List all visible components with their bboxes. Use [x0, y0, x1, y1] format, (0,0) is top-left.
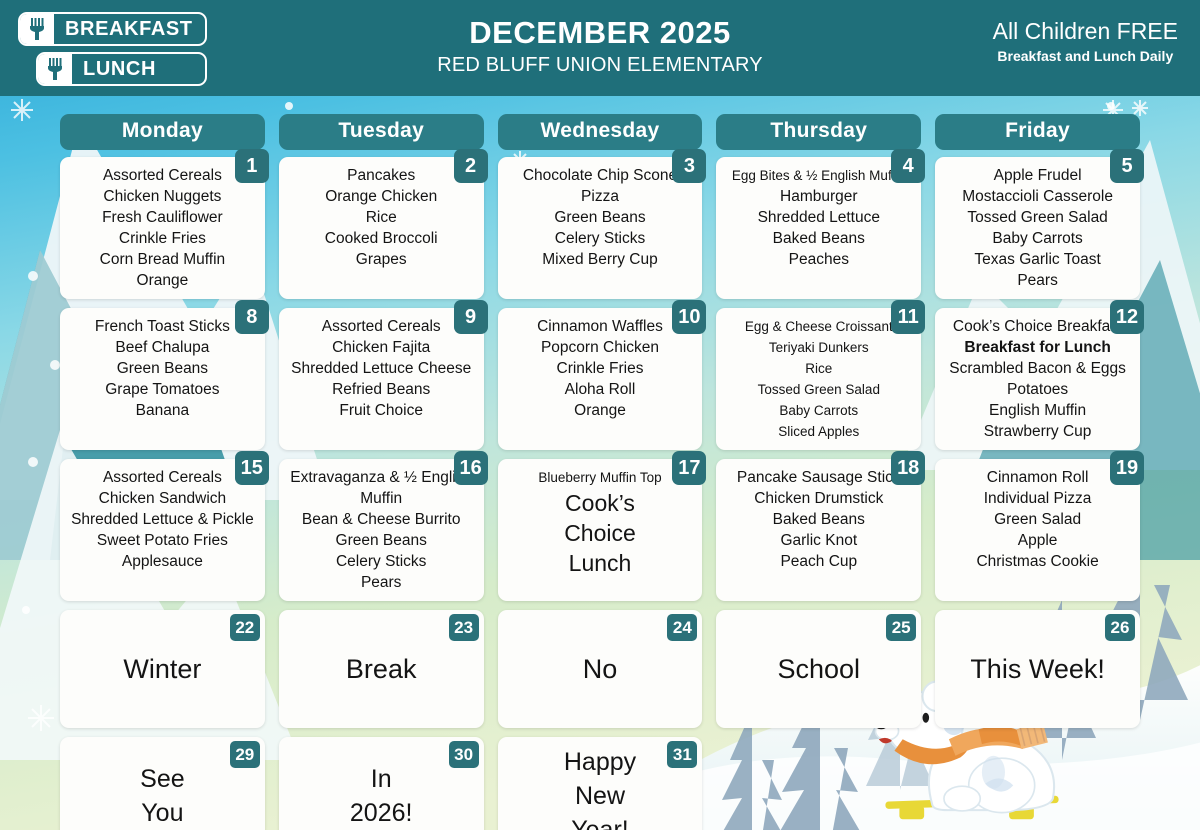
menu-item: Scrambled Bacon & Eggs — [941, 358, 1134, 379]
menu-item: Cinnamon Waffles — [504, 316, 697, 337]
menu-item: Assorted Cereals — [285, 316, 478, 337]
date-badge: 24 — [667, 614, 697, 641]
menu-item-list: Egg Bites & ½ English MuffinHamburgerShr… — [722, 165, 915, 270]
day-header-monday: Monday — [60, 114, 265, 150]
menu-item-list: Pancake Sausage StickChicken DrumstickBa… — [722, 467, 915, 572]
day-cell-10[interactable]: 10Cinnamon WafflesPopcorn ChickenCrinkle… — [498, 308, 703, 450]
menu-item: Choice — [504, 518, 697, 548]
day-cell-22[interactable]: 22Winter — [60, 610, 265, 728]
menu-item: Pancake Sausage Stick — [722, 467, 915, 488]
date-badge: 17 — [672, 451, 706, 485]
menu-item-list: Cinnamon WafflesPopcorn ChickenCrinkle F… — [504, 316, 697, 421]
menu-item: Egg Bites & ½ English Muffin — [722, 165, 915, 186]
menu-item: Green Beans — [66, 358, 259, 379]
day-cell-2[interactable]: 2PancakesOrange ChickenRiceCooked Brocco… — [279, 157, 484, 299]
day-cell-29[interactable]: 29SeeYou — [60, 737, 265, 830]
fork-icon — [20, 14, 54, 44]
menu-item: Pizza — [504, 186, 697, 207]
calendar-week-row: 15Assorted CerealsChicken SandwichShredd… — [60, 459, 1140, 601]
menu-item-list: Assorted CerealsChicken FajitaShredded L… — [285, 316, 478, 421]
menu-item: Lunch — [504, 548, 697, 578]
menu-item: Mostaccioli Casserole — [941, 186, 1134, 207]
calendar-week-row: 8French Toast SticksBeef ChalupaGreen Be… — [60, 308, 1140, 450]
menu-item: Texas Garlic Toast — [941, 249, 1134, 270]
date-badge: 2 — [454, 149, 488, 183]
day-cell-9[interactable]: 9Assorted CerealsChicken FajitaShredded … — [279, 308, 484, 450]
message-line: No — [504, 651, 697, 687]
menu-item: Blueberry Muffin Top — [504, 467, 697, 488]
menu-item: Orange Chicken — [285, 186, 478, 207]
date-badge: 30 — [449, 741, 479, 768]
menu-item: Hamburger — [722, 186, 915, 207]
day-cell-16[interactable]: 16Extravaganza & ½ EnglishMuffinBean & C… — [279, 459, 484, 601]
menu-item: Banana — [66, 400, 259, 421]
menu-item: Rice — [285, 207, 478, 228]
menu-item: Egg & Cheese Croissant — [722, 316, 915, 337]
menu-item: Tossed Green Salad — [722, 379, 915, 400]
menu-item: Aloha Roll — [504, 379, 697, 400]
message-line: See — [66, 762, 259, 796]
menu-item: Green Beans — [504, 207, 697, 228]
date-badge: 8 — [235, 300, 269, 334]
menu-item-list: Extravaganza & ½ EnglishMuffinBean & Che… — [285, 467, 478, 593]
menu-item-list: French Toast SticksBeef ChalupaGreen Bea… — [66, 316, 259, 421]
message-line: In — [285, 762, 478, 796]
menu-item: Cooked Broccoli — [285, 228, 478, 249]
date-badge: 5 — [1110, 149, 1144, 183]
menu-item: Mixed Berry Cup — [504, 249, 697, 270]
message-line: You — [66, 796, 259, 830]
day-cell-12[interactable]: 12Cook’s Choice BreakfastBreakfast for L… — [935, 308, 1140, 450]
date-badge: 26 — [1105, 614, 1135, 641]
message-line: This Week! — [941, 651, 1134, 687]
menu-item: Baked Beans — [722, 228, 915, 249]
menu-item: Peach Cup — [722, 551, 915, 572]
menu-item: Pears — [941, 270, 1134, 291]
menu-item-list: Assorted CerealsChicken NuggetsFresh Cau… — [66, 165, 259, 291]
calendar-week-row: 22Winter23Break24No25School26This Week! — [60, 610, 1140, 728]
menu-item: Assorted Cereals — [66, 165, 259, 186]
menu-item: Potatoes — [941, 379, 1134, 400]
calendar-weeks: 1Assorted CerealsChicken NuggetsFresh Ca… — [60, 157, 1140, 830]
menu-item: Fresh Cauliflower — [66, 207, 259, 228]
menu-item: Cook’s Choice Breakfast — [941, 316, 1134, 337]
message-line: Winter — [66, 651, 259, 687]
menu-item: Individual Pizza — [941, 488, 1134, 509]
date-badge: 22 — [230, 614, 260, 641]
date-badge: 1 — [235, 149, 269, 183]
menu-item-list: Chocolate Chip SconePizzaGreen BeansCele… — [504, 165, 697, 270]
date-badge: 19 — [1110, 451, 1144, 485]
day-cell-18[interactable]: 18Pancake Sausage StickChicken Drumstick… — [716, 459, 921, 601]
date-badge: 15 — [235, 451, 269, 485]
day-header-wednesday: Wednesday — [498, 114, 703, 150]
date-badge: 3 — [672, 149, 706, 183]
day-cell-26[interactable]: 26This Week! — [935, 610, 1140, 728]
free-meals-headline: All Children FREE — [993, 16, 1178, 46]
day-cell-30[interactable]: 30In2026! — [279, 737, 484, 830]
day-cell-5[interactable]: 5Apple FrudelMostaccioli CasseroleTossed… — [935, 157, 1140, 299]
menu-item: Pancakes — [285, 165, 478, 186]
day-cell-4[interactable]: 4Egg Bites & ½ English MuffinHamburgerSh… — [716, 157, 921, 299]
day-cell-8[interactable]: 8French Toast SticksBeef ChalupaGreen Be… — [60, 308, 265, 450]
menu-item: Assorted Cereals — [66, 467, 259, 488]
menu-item: Cook’s — [504, 488, 697, 518]
menu-item: Chocolate Chip Scone — [504, 165, 697, 186]
menu-item: Extravaganza & ½ English — [285, 467, 478, 488]
menu-item: Popcorn Chicken — [504, 337, 697, 358]
menu-item: Green Beans — [285, 530, 478, 551]
day-cell-23[interactable]: 23Break — [279, 610, 484, 728]
menu-item: Baked Beans — [722, 509, 915, 530]
program-logos: BREAKFAST LUNCH — [18, 12, 207, 86]
menu-item-list: Cook’s Choice BreakfastBreakfast for Lun… — [941, 316, 1134, 442]
menu-item: Beef Chalupa — [66, 337, 259, 358]
menu-item: Orange — [66, 270, 259, 291]
breakfast-label: BREAKFAST — [54, 14, 205, 44]
message-line: 2026! — [285, 796, 478, 830]
day-of-week-header-row: MondayTuesdayWednesdayThursdayFriday — [60, 114, 1140, 150]
date-badge: 29 — [230, 741, 260, 768]
free-meals-notice: All Children FREE Breakfast and Lunch Da… — [993, 16, 1178, 66]
menu-item: Chicken Sandwich — [66, 488, 259, 509]
day-cell-15[interactable]: 15Assorted CerealsChicken SandwichShredd… — [60, 459, 265, 601]
menu-item: Pears — [285, 572, 478, 593]
message-line: New — [504, 779, 697, 813]
menu-item-list: Blueberry Muffin TopCook’sChoiceLunch — [504, 467, 697, 578]
menu-item: Bean & Cheese Burrito — [285, 509, 478, 530]
message-line: Break — [285, 651, 478, 687]
menu-item: Apple — [941, 530, 1134, 551]
menu-item-list: Cinnamon RollIndividual PizzaGreen Salad… — [941, 467, 1134, 572]
menu-item: Tossed Green Salad — [941, 207, 1134, 228]
date-badge: 31 — [667, 741, 697, 768]
menu-item: Cinnamon Roll — [941, 467, 1134, 488]
menu-item: English Muffin — [941, 400, 1134, 421]
menu-item: Garlic Knot — [722, 530, 915, 551]
menu-item-list: PancakesOrange ChickenRiceCooked Broccol… — [285, 165, 478, 270]
menu-item: Corn Bread Muffin — [66, 249, 259, 270]
menu-item: Green Salad — [941, 509, 1134, 530]
calendar-week-row: 29SeeYou30In2026!31HappyNewYear! — [60, 737, 1140, 830]
date-badge: 23 — [449, 614, 479, 641]
date-badge: 4 — [891, 149, 925, 183]
date-badge: 9 — [454, 300, 488, 334]
date-badge: 11 — [891, 300, 925, 334]
lunch-label: LUNCH — [72, 54, 168, 84]
lunch-logo: LUNCH — [36, 52, 207, 86]
menu-item: Celery Sticks — [285, 551, 478, 572]
menu-item: Grape Tomatoes — [66, 379, 259, 400]
day-cell-25[interactable]: 25School — [716, 610, 921, 728]
menu-item: Orange — [504, 400, 697, 421]
menu-item: Breakfast for Lunch — [941, 337, 1134, 358]
menu-item: Fruit Choice — [285, 400, 478, 421]
menu-item: Strawberry Cup — [941, 421, 1134, 442]
day-header-tuesday: Tuesday — [279, 114, 484, 150]
menu-item: Celery Sticks — [504, 228, 697, 249]
menu-item-list: Egg & Cheese CroissantTeriyaki DunkersRi… — [722, 316, 915, 442]
day-cell-31[interactable]: 31HappyNewYear! — [498, 737, 703, 830]
menu-item: Chicken Drumstick — [722, 488, 915, 509]
breakfast-logo: BREAKFAST — [18, 12, 207, 46]
menu-item-list: Apple FrudelMostaccioli CasseroleTossed … — [941, 165, 1134, 291]
date-badge: 16 — [454, 451, 488, 485]
menu-item: Refried Beans — [285, 379, 478, 400]
day-cell-1[interactable]: 1Assorted CerealsChicken NuggetsFresh Ca… — [60, 157, 265, 299]
day-cell-24[interactable]: 24No — [498, 610, 703, 728]
free-meals-subline: Breakfast and Lunch Daily — [993, 46, 1178, 66]
day-cell-17[interactable]: 17Blueberry Muffin TopCook’sChoiceLunch — [498, 459, 703, 601]
calendar-week-row: 1Assorted CerealsChicken NuggetsFresh Ca… — [60, 157, 1140, 299]
menu-item: Chicken Fajita — [285, 337, 478, 358]
menu-item: Peaches — [722, 249, 915, 270]
day-header-thursday: Thursday — [716, 114, 921, 150]
message-line: Year! — [504, 813, 697, 830]
menu-item: Shredded Lettuce & Pickle — [66, 509, 259, 530]
menu-item: Applesauce — [66, 551, 259, 572]
menu-item: Grapes — [285, 249, 478, 270]
menu-item: Crinkle Fries — [504, 358, 697, 379]
menu-item: French Toast Sticks — [66, 316, 259, 337]
menu-item: Baby Carrots — [722, 400, 915, 421]
day-cell-11[interactable]: 11Egg & Cheese CroissantTeriyaki Dunkers… — [716, 308, 921, 450]
fork-glyph — [30, 18, 44, 40]
day-header-friday: Friday — [935, 114, 1140, 150]
menu-item: Sweet Potato Fries — [66, 530, 259, 551]
page-header: BREAKFAST LUNCH DECEMBER 2025 RED BLUFF … — [0, 0, 1200, 96]
menu-item: Apple Frudel — [941, 165, 1134, 186]
menu-item: Baby Carrots — [941, 228, 1134, 249]
message-line: School — [722, 651, 915, 687]
menu-item: Rice — [722, 358, 915, 379]
menu-item: Shredded Lettuce — [722, 207, 915, 228]
fork-icon — [38, 54, 72, 84]
day-cell-19[interactable]: 19Cinnamon RollIndividual PizzaGreen Sal… — [935, 459, 1140, 601]
day-cell-3[interactable]: 3Chocolate Chip SconePizzaGreen BeansCel… — [498, 157, 703, 299]
fork-glyph — [48, 58, 62, 80]
date-badge: 12 — [1110, 300, 1144, 334]
menu-item: Crinkle Fries — [66, 228, 259, 249]
date-badge: 10 — [672, 300, 706, 334]
date-badge: 25 — [886, 614, 916, 641]
date-badge: 18 — [891, 451, 925, 485]
menu-item: Muffin — [285, 488, 478, 509]
menu-item-list: Assorted CerealsChicken SandwichShredded… — [66, 467, 259, 572]
menu-calendar: MondayTuesdayWednesdayThursdayFriday 1As… — [60, 114, 1140, 830]
menu-item: Teriyaki Dunkers — [722, 337, 915, 358]
menu-item: Chicken Nuggets — [66, 186, 259, 207]
menu-item: Shredded Lettuce Cheese — [285, 358, 478, 379]
menu-page: BREAKFAST LUNCH DECEMBER 2025 RED BLUFF … — [0, 0, 1200, 830]
menu-item: Christmas Cookie — [941, 551, 1134, 572]
menu-item: Sliced Apples — [722, 421, 915, 442]
